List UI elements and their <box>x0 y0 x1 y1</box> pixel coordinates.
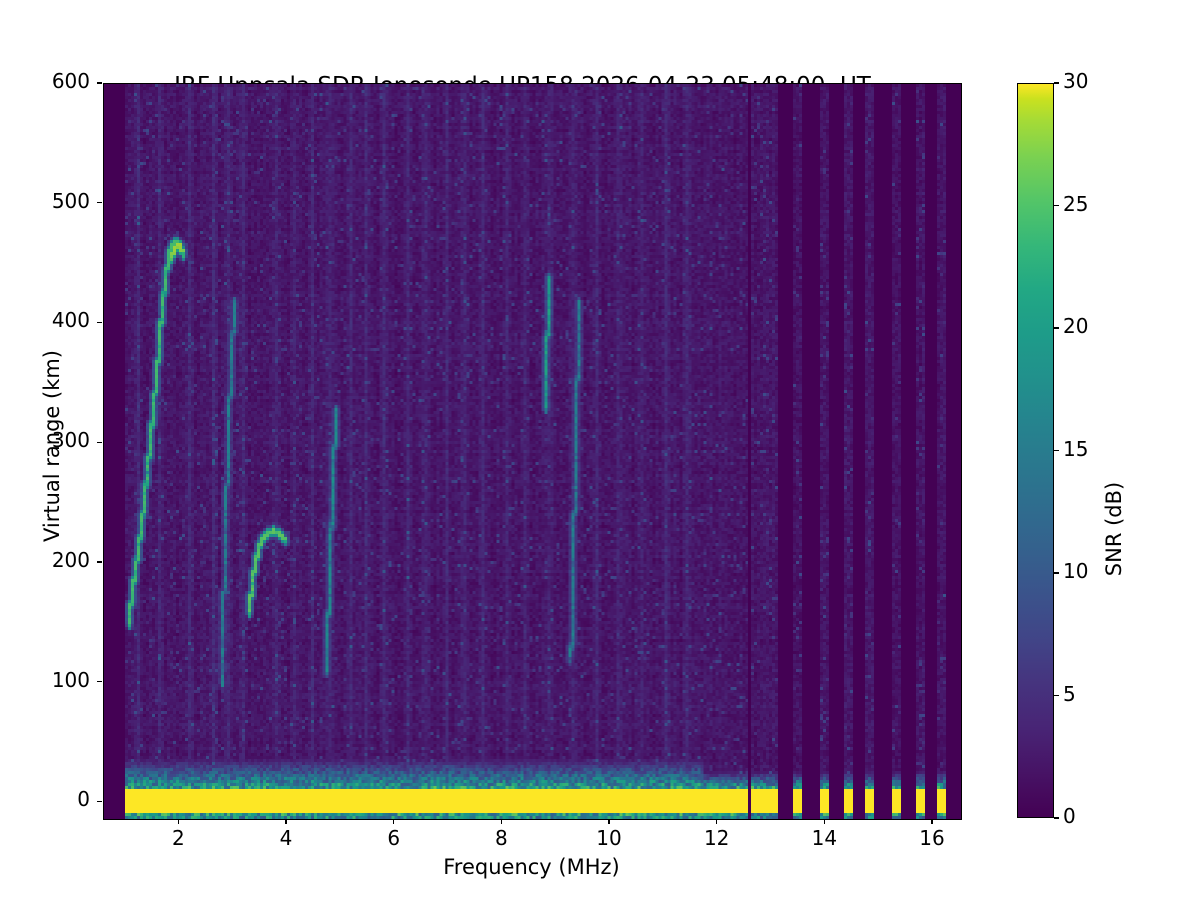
y-tick-label-300: 300 <box>10 428 90 452</box>
ionogram-plot-area[interactable] <box>103 83 962 820</box>
colorbar-tick-30 <box>1054 82 1059 83</box>
colorbar-tick-15 <box>1054 450 1059 451</box>
y-tick-label-400: 400 <box>10 308 90 332</box>
x-tick-label-16: 16 <box>897 826 967 850</box>
colorbar-tick-5 <box>1054 695 1059 696</box>
ionogram-heatmap[interactable] <box>104 84 961 819</box>
x-tick-label-8: 8 <box>466 826 536 850</box>
x-tick-6 <box>393 819 394 824</box>
y-tick-200 <box>97 561 102 562</box>
y-tick-300 <box>97 442 102 443</box>
colorbar-tick-label-5: 5 <box>1063 682 1076 706</box>
colorbar-tick-10 <box>1054 572 1059 573</box>
colorbar-tick-20 <box>1054 327 1059 328</box>
y-tick-100 <box>97 681 102 682</box>
colorbar-tick-0 <box>1054 817 1059 818</box>
colorbar-tick-25 <box>1054 205 1059 206</box>
y-tick-label-200: 200 <box>10 548 90 572</box>
colorbar-tick-label-10: 10 <box>1063 559 1088 583</box>
x-tick-12 <box>716 819 717 824</box>
x-tick-2 <box>178 819 179 824</box>
x-tick-16 <box>931 819 932 824</box>
x-tick-label-4: 4 <box>251 826 321 850</box>
colorbar-tick-label-0: 0 <box>1063 804 1076 828</box>
x-tick-14 <box>824 819 825 824</box>
x-axis-label: Frequency (MHz) <box>103 855 960 879</box>
x-tick-label-14: 14 <box>789 826 859 850</box>
y-tick-label-100: 100 <box>10 668 90 692</box>
x-tick-label-2: 2 <box>143 826 213 850</box>
colorbar-tick-label-30: 30 <box>1063 69 1088 93</box>
x-tick-8 <box>501 819 502 824</box>
y-tick-label-500: 500 <box>10 189 90 213</box>
colorbar-label: SNR (dB) <box>1102 329 1126 729</box>
y-tick-label-0: 0 <box>10 787 90 811</box>
y-tick-400 <box>97 322 102 323</box>
x-tick-10 <box>608 819 609 824</box>
y-tick-0 <box>97 801 102 802</box>
colorbar-tick-label-25: 25 <box>1063 192 1088 216</box>
colorbar-gradient[interactable] <box>1017 83 1054 818</box>
y-tick-600 <box>97 82 102 83</box>
y-tick-label-600: 600 <box>10 69 90 93</box>
colorbar-tick-label-20: 20 <box>1063 314 1088 338</box>
x-tick-label-10: 10 <box>574 826 644 850</box>
x-tick-label-6: 6 <box>359 826 429 850</box>
colorbar-container[interactable]: SNR (dB) 051015202530 <box>1017 83 1054 818</box>
ionogram-figure: IRF Uppsala SDR Ionosonde UP158 2026-04-… <box>0 0 1200 900</box>
y-tick-500 <box>97 202 102 203</box>
colorbar-tick-label-15: 15 <box>1063 437 1088 461</box>
x-tick-label-12: 12 <box>682 826 752 850</box>
x-tick-4 <box>285 819 286 824</box>
